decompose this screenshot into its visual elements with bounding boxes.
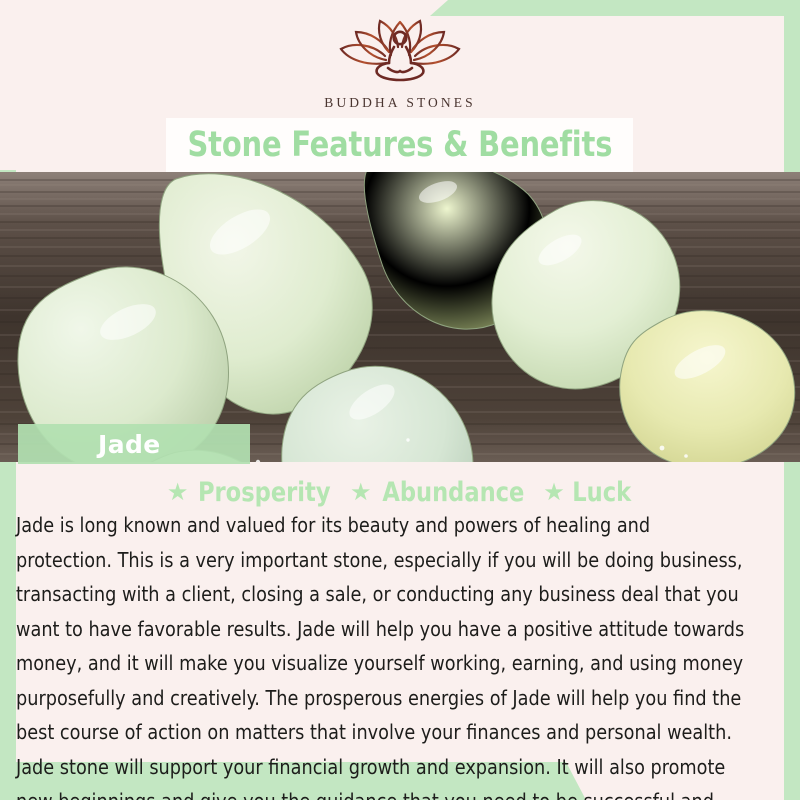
description-panel: Jade is long known and valued for its be… bbox=[16, 508, 784, 800]
keyword-luck: Luck bbox=[572, 477, 631, 508]
section-title-banner: Stone Features & Benefits bbox=[166, 118, 633, 172]
star-icon: ★ bbox=[350, 478, 372, 507]
jade-tumbled-stones-photo bbox=[0, 172, 800, 462]
star-icon: ★ bbox=[167, 478, 189, 507]
page-title: Stone Features & Benefits bbox=[187, 125, 612, 165]
accent-shape-top-right bbox=[430, 0, 800, 16]
description-text: Jade is long known and valued for its be… bbox=[16, 508, 749, 800]
brand-name: BUDDHA STONES bbox=[0, 95, 800, 111]
infographic-page: BUDDHA STONES Stone Features & Benefits bbox=[0, 0, 800, 800]
keyword-prosperity: Prosperity bbox=[198, 477, 331, 508]
stone-name-label: Jade bbox=[98, 430, 161, 459]
star-icon: ★ bbox=[543, 478, 565, 507]
brand-logo: BUDDHA STONES bbox=[0, 16, 800, 111]
keyword-abundance: Abundance bbox=[382, 477, 524, 508]
stone-name-badge: Jade bbox=[18, 424, 250, 464]
lotus-meditation-icon bbox=[0, 16, 800, 91]
keyword-list: ★Prosperity★Abundance★Luck bbox=[0, 477, 800, 508]
